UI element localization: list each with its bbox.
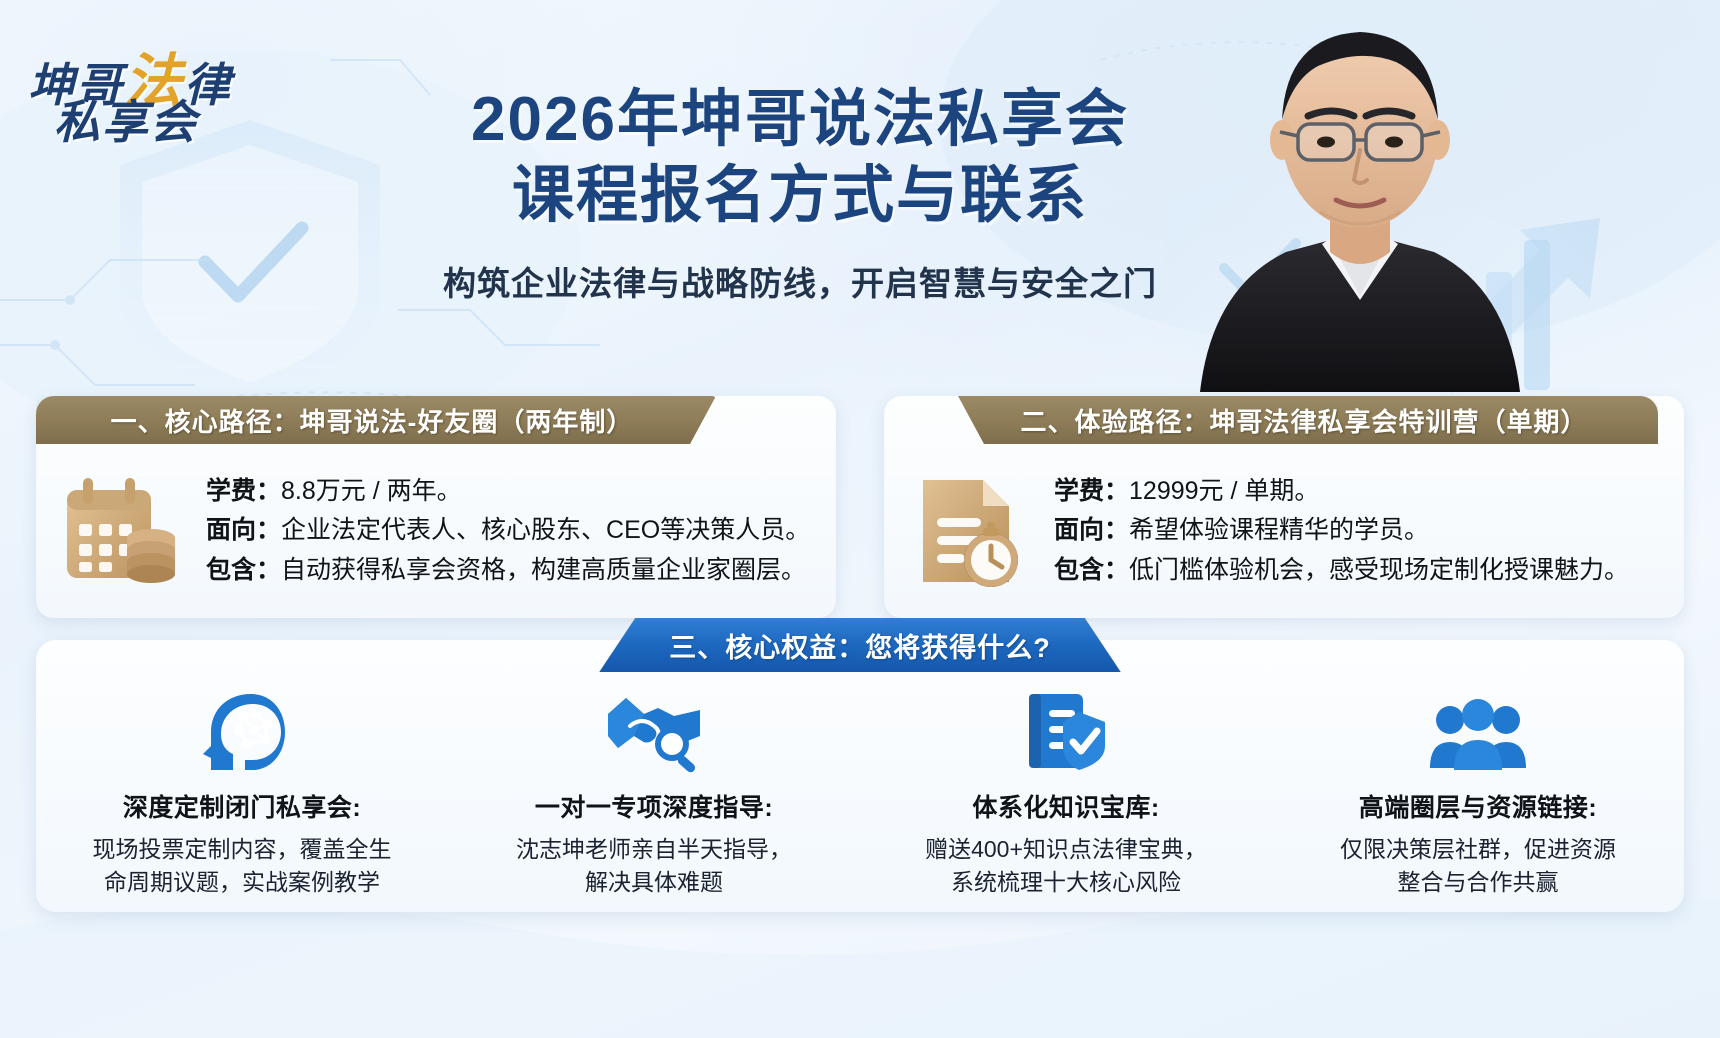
benefit-title: 高端圈层与资源链接: — [1359, 788, 1597, 824]
benefit-desc-line-1: 沈志坤老师亲自半天指导， — [516, 836, 792, 862]
benefit-desc-line-2: 整合与合作共赢 — [1398, 869, 1559, 895]
book-check-icon — [1023, 688, 1109, 774]
benefit-item[interactable]: 一对一专项深度指导: 沈志坤老师亲自半天指导， 解决具体难题 — [448, 688, 860, 900]
benefits-panel: 三、核心权益：您将获得什么? — [36, 640, 1684, 912]
benefit-title: 深度定制闭门私享会: — [123, 788, 361, 824]
benefit-desc-line-2: 系统梳理十大核心风险 — [951, 869, 1181, 895]
path-card-trial-lines: 学费：12999元 / 单期。 面向：希望体验课程精华的学员。 包含：低门槛体验… — [1054, 472, 1684, 591]
handshake-search-icon — [604, 688, 704, 774]
document-stopwatch-icon — [884, 472, 1054, 590]
brand-logo: 坤哥法律 私享会 — [18, 28, 288, 153]
benefit-desc-line-1: 现场投票定制内容，覆盖全生 — [93, 836, 392, 862]
head-brain-icon — [199, 688, 285, 774]
benefit-title: 一对一专项深度指导: — [535, 788, 773, 824]
path-card-trial-line-2-label: 面向： — [1054, 516, 1129, 544]
page-title-line-1: 2026年坤哥说法私享会 — [360, 82, 1240, 158]
path-card-core-line-3-value: 自动获得私享会资格，构建高质量企业家圈层。 — [281, 556, 806, 584]
path-card-core-header: 一、核心路径：坤哥说法-好友圈（两年制） — [36, 396, 716, 444]
benefit-desc-line-2: 命周期议题，实战案例教学 — [104, 869, 380, 895]
path-card-core-line-1-value: 8.8万元 / 两年。 — [281, 477, 462, 505]
benefits-grid: 深度定制闭门私享会: 现场投票定制内容，覆盖全生 命周期议题，实战案例教学 — [36, 688, 1684, 898]
benefit-item[interactable]: 高端圈层与资源链接: 仅限决策层社群，促进资源 整合与合作共赢 — [1272, 688, 1684, 900]
path-card-core-lines: 学费：8.8万元 / 两年。 面向：企业法定代表人、核心股东、CEO等决策人员。… — [206, 472, 836, 591]
path-card-core-line-1: 学费：8.8万元 / 两年。 — [206, 472, 818, 512]
path-card-core-line-2: 面向：企业法定代表人、核心股东、CEO等决策人员。 — [206, 511, 818, 551]
path-card-trial-line-3-label: 包含： — [1054, 556, 1129, 584]
benefit-desc: 现场投票定制内容，覆盖全生 命周期议题，实战案例教学 — [93, 833, 392, 900]
benefit-desc: 沈志坤老师亲自半天指导， 解决具体难题 — [516, 833, 792, 900]
people-group-icon — [1428, 688, 1528, 774]
path-card-trial-line-3: 包含：低门槛体验机会，感受现场定制化授课魅力。 — [1054, 551, 1666, 591]
benefit-desc-line-1: 仅限决策层社群，促进资源 — [1340, 836, 1616, 862]
benefit-item[interactable]: 深度定制闭门私享会: 现场投票定制内容，覆盖全生 命周期议题，实战案例教学 — [36, 688, 448, 900]
path-card-trial-line-3-value: 低门槛体验机会，感受现场定制化授课魅力。 — [1129, 556, 1629, 584]
path-cards-container: 一、核心路径：坤哥说法-好友圈（两年制） — [36, 396, 1684, 618]
benefit-title: 体系化知识宝库: — [972, 788, 1159, 824]
hero-title-block: 2026年坤哥说法私享会 课程报名方式与联系 构筑企业法律与战略防线，开启智慧与… — [360, 82, 1240, 305]
benefit-desc: 仅限决策层社群，促进资源 整合与合作共赢 — [1340, 833, 1616, 900]
path-card-trial-header: 二、体验路径：坤哥法律私享会特训营（单期） — [958, 396, 1658, 444]
benefit-desc-line-1: 赠送400+知识点法律宝典， — [925, 836, 1207, 862]
path-card-trial-line-1-value: 12999元 / 单期。 — [1129, 477, 1319, 505]
benefits-banner: 三、核心权益：您将获得什么? — [599, 618, 1121, 672]
path-card-trial-line-1-label: 学费： — [1054, 477, 1129, 505]
path-card-core-header-label: 一、核心路径：坤哥说法-好友圈（两年制） — [111, 402, 634, 439]
path-card-core-body: 学费：8.8万元 / 两年。 面向：企业法定代表人、核心股东、CEO等决策人员。… — [36, 444, 836, 618]
path-card-core-line-3: 包含：自动获得私享会资格，构建高质量企业家圈层。 — [206, 551, 818, 591]
path-card-trial-line-2: 面向：希望体验课程精华的学员。 — [1054, 511, 1666, 551]
page-title-line-2: 课程报名方式与联系 — [360, 158, 1240, 234]
benefits-banner-label: 三、核心权益：您将获得什么? — [669, 626, 1051, 665]
benefit-desc: 赠送400+知识点法律宝典， 系统梳理十大核心风险 — [925, 833, 1207, 900]
benefit-desc-line-2: 解决具体难题 — [585, 869, 723, 895]
benefit-item[interactable]: 体系化知识宝库: 赠送400+知识点法律宝典， 系统梳理十大核心风险 — [860, 688, 1272, 900]
path-card-trial-line-2-value: 希望体验课程精华的学员。 — [1129, 516, 1429, 544]
path-card-core-line-1-label: 学费： — [206, 477, 281, 505]
speaker-portrait — [1190, 0, 1530, 392]
page-subtitle: 构筑企业法律与战略防线，开启智慧与安全之门 — [360, 257, 1240, 305]
path-card-core[interactable]: 一、核心路径：坤哥说法-好友圈（两年制） — [36, 396, 836, 618]
calendar-coins-icon — [36, 472, 206, 590]
path-card-trial-line-1: 学费：12999元 / 单期。 — [1054, 472, 1666, 512]
path-card-core-line-3-label: 包含： — [206, 556, 281, 584]
path-card-trial-body: 学费：12999元 / 单期。 面向：希望体验课程精华的学员。 包含：低门槛体验… — [884, 444, 1684, 618]
logo-line-2: 私享会 — [18, 86, 288, 152]
path-card-trial-header-label: 二、体验路径：坤哥法律私享会特训营（单期） — [1020, 402, 1587, 439]
path-card-core-line-2-value: 企业法定代表人、核心股东、CEO等决策人员。 — [281, 516, 810, 544]
path-card-trial[interactable]: 二、体验路径：坤哥法律私享会特训营（单期） — [884, 396, 1684, 618]
path-card-core-line-2-label: 面向： — [206, 516, 281, 544]
